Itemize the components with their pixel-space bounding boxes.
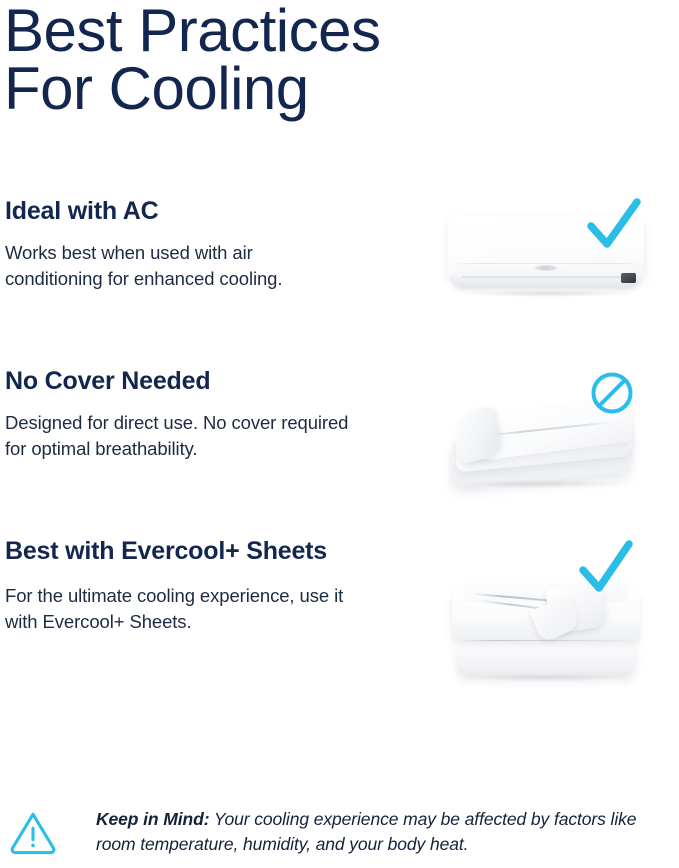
- section-visual-sheet-stack: [440, 536, 655, 696]
- practice-text-block: No Cover Needed Designed for direct use.…: [5, 366, 405, 462]
- practice-section-ideal-with-ac: Ideal with AC Works best when used with …: [0, 196, 679, 366]
- sheet-stack-drop-shadow: [466, 674, 626, 681]
- section-heading: Ideal with AC: [5, 196, 405, 227]
- ac-air-vent: [454, 274, 638, 287]
- section-visual-air-conditioner: [440, 196, 655, 356]
- sheet-stack-lower-layer: [458, 642, 634, 675]
- practice-text-block: Best with Evercool+ Sheets For the ultim…: [5, 536, 405, 635]
- page-title: Best Practices For Cooling: [4, 2, 474, 117]
- prohibited-icon: [589, 370, 635, 416]
- ac-display-panel: [621, 273, 636, 283]
- section-heading: Best with Evercool+ Sheets: [5, 536, 405, 567]
- section-body: For the ultimate cooling experience, use…: [5, 583, 360, 636]
- keep-in-mind-label: Keep in Mind:: [96, 809, 209, 829]
- practice-section-no-cover-needed: No Cover Needed Designed for direct use.…: [0, 366, 679, 536]
- section-body: Works best when used with air conditioni…: [5, 240, 350, 293]
- keep-in-mind-text: Keep in Mind: Your cooling experience ma…: [96, 807, 679, 857]
- warning-triangle-icon: [6, 807, 60, 857]
- check-icon: [585, 198, 643, 254]
- keep-in-mind-note: Keep in Mind: Your cooling experience ma…: [0, 796, 679, 868]
- page-title-line-2: For Cooling: [4, 60, 474, 118]
- duvet-drop-shadow: [460, 480, 626, 488]
- section-visual-duvet-cover: [440, 366, 655, 526]
- ac-drop-shadow: [462, 290, 632, 297]
- ac-seam-line: [453, 263, 639, 264]
- practice-section-best-with-evercool-sheets: Best with Evercool+ Sheets For the ultim…: [0, 536, 679, 706]
- check-icon: [577, 540, 635, 600]
- ac-brand-logo: [535, 265, 557, 271]
- page-title-line-1: Best Practices: [4, 2, 474, 60]
- section-heading: No Cover Needed: [5, 366, 405, 397]
- section-body: Designed for direct use. No cover requir…: [5, 410, 350, 463]
- practice-text-block: Ideal with AC Works best when used with …: [5, 196, 405, 292]
